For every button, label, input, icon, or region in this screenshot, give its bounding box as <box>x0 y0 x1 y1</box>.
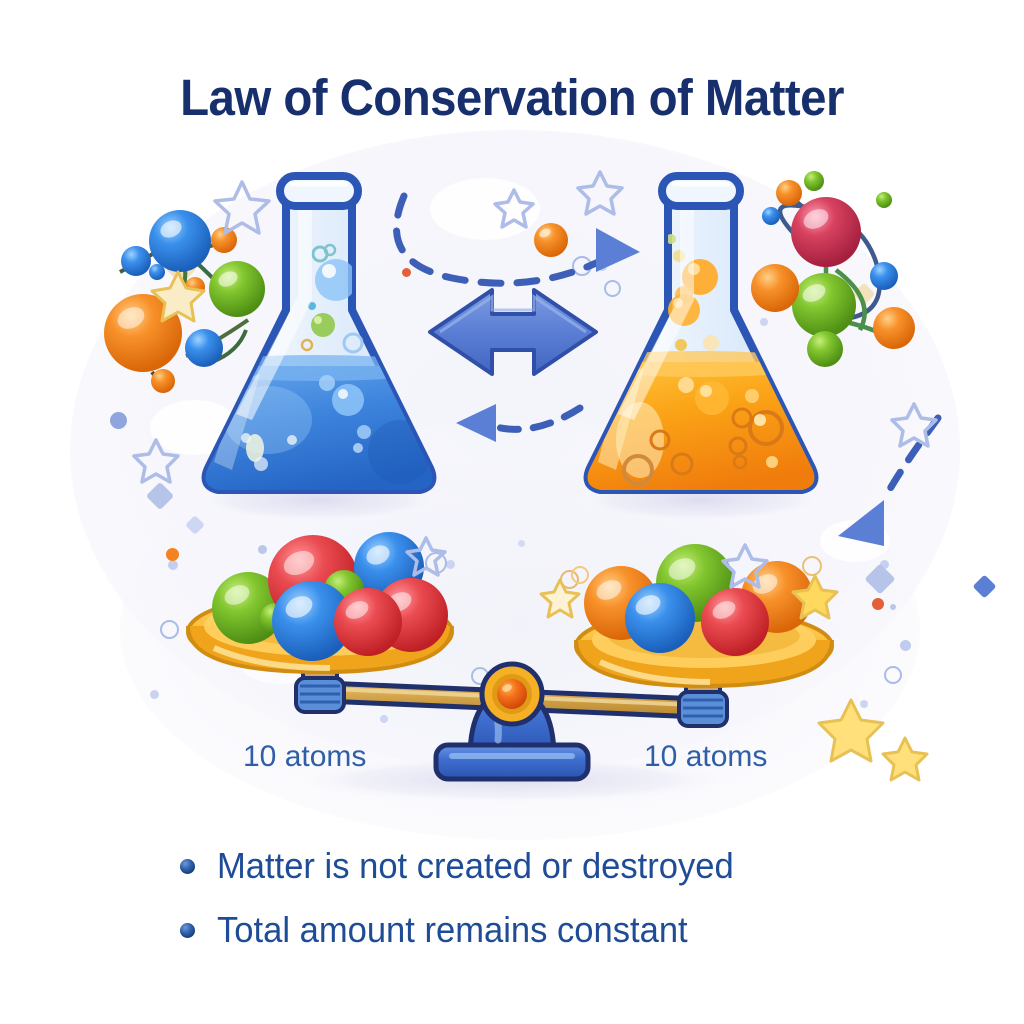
sphere-red <box>334 588 402 656</box>
list-item-label: Matter is not created or destroyed <box>217 845 734 887</box>
atom-blue-small <box>121 246 151 276</box>
atom-orange-medium <box>873 307 915 349</box>
product-molecule-cluster <box>751 171 915 367</box>
dashed-arrow-bottom-right <box>838 418 938 546</box>
list-item-label: Total amount remains constant <box>217 909 688 951</box>
bullet-sphere-icon <box>180 859 195 874</box>
atom-orange-tiny <box>151 369 175 393</box>
double-headed-arrow <box>430 290 596 374</box>
list-item: Total amount remains constant <box>180 909 940 951</box>
list-item: Matter is not created or destroyed <box>180 845 940 887</box>
conservation-of-matter-infographic: Law of Conservation of Matter 10 atoms 1… <box>0 0 1024 1024</box>
atom-orange-small <box>776 180 802 206</box>
atom-blue-small <box>185 329 223 367</box>
floating-atom-orange <box>534 223 568 257</box>
bullet-sphere-icon <box>180 923 195 938</box>
atom-blue-tiny <box>762 207 780 225</box>
page-title: Law of Conservation of Matter <box>36 68 988 127</box>
pivot-knob-center <box>497 679 527 709</box>
atom-orange-medium <box>751 264 799 312</box>
atom-green-large <box>792 273 856 337</box>
atom-green-small <box>807 331 843 367</box>
right-pan-atom-count: 10 atoms <box>644 740 767 774</box>
atom-blue-tiny <box>149 264 165 280</box>
sphere-red <box>701 588 769 656</box>
scale-base-foot <box>436 745 588 779</box>
dashed-arrow-middle-left <box>456 404 580 442</box>
atom-green-tiny <box>804 171 824 191</box>
atom-green-tiny <box>876 192 892 208</box>
key-points-list: Matter is not created or destroyed Total… <box>180 845 940 973</box>
atom-green-medium <box>209 261 265 317</box>
atom-blue-large <box>149 210 211 272</box>
atom-blue-small <box>870 262 898 290</box>
sphere-blue <box>625 583 695 653</box>
atom-crimson-large <box>791 197 861 267</box>
left-pan-atom-count: 10 atoms <box>243 740 366 774</box>
